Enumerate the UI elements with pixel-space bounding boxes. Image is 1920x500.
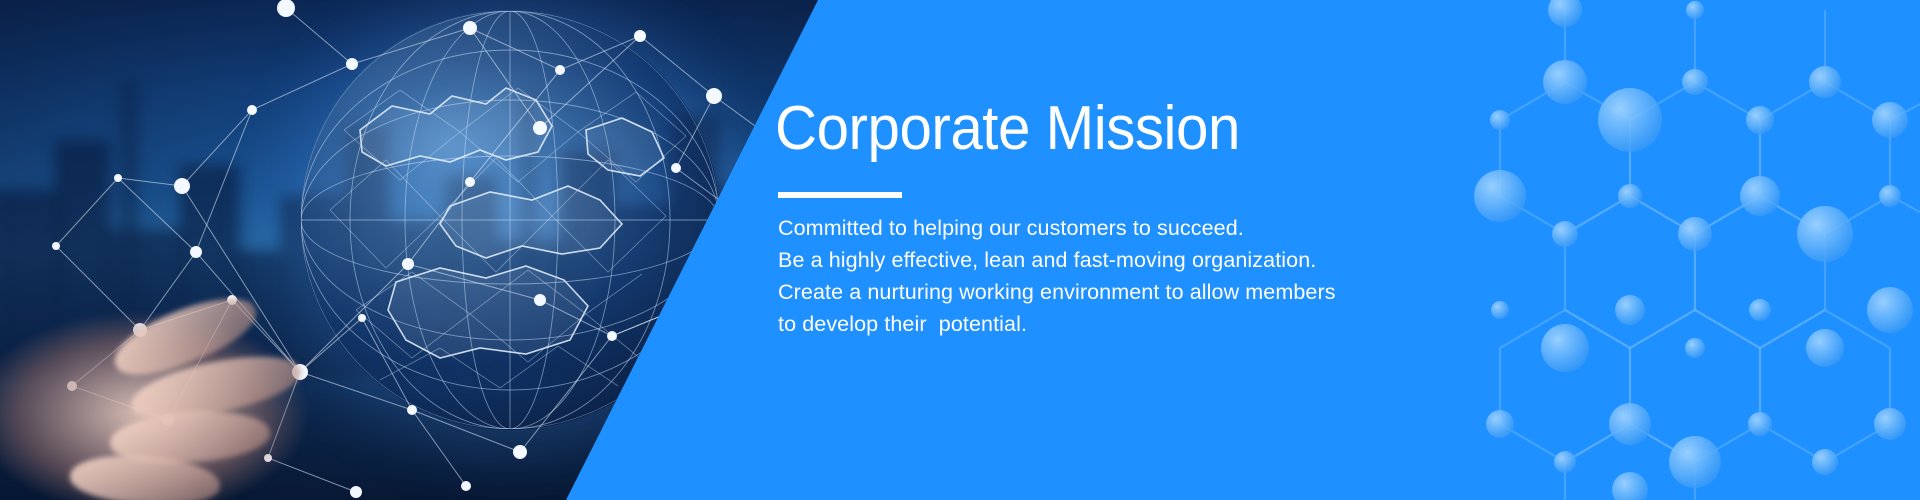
mission-line: Create a nurturing working environment t… <box>778 276 1478 308</box>
corporate-mission-banner: Corporate Mission Committed to helping o… <box>0 0 1920 500</box>
title-underline-divider <box>778 192 902 198</box>
mission-line: Committed to helping our customers to su… <box>778 212 1478 244</box>
mission-line: to develop their potential. <box>778 308 1478 340</box>
hand-reaching-photo-element <box>0 270 360 500</box>
mission-line: Be a highly effective, lean and fast-mov… <box>778 244 1478 276</box>
banner-text-content: Corporate Mission Committed to helping o… <box>775 0 1775 500</box>
mission-statement-list: Committed to helping our customers to su… <box>778 212 1478 340</box>
page-title: Corporate Mission <box>775 96 1240 162</box>
